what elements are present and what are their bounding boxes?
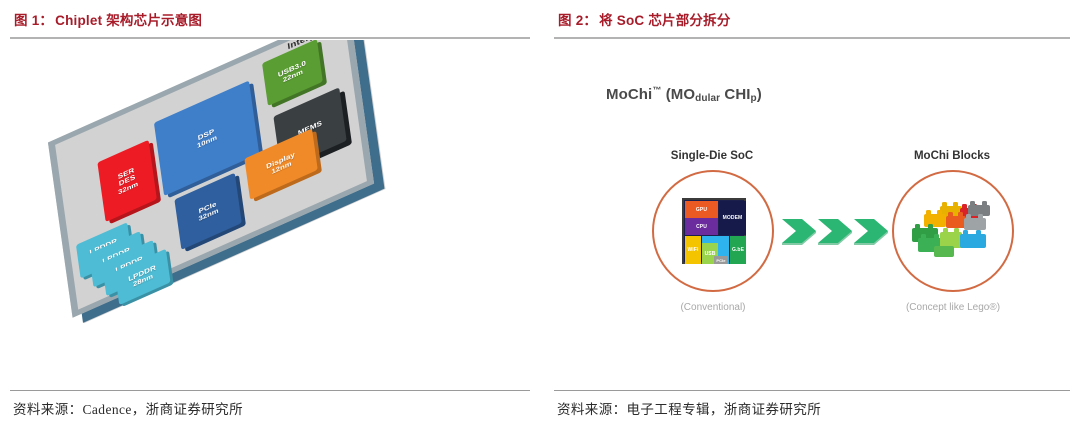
soc-caption: (Conventional) [642,302,784,313]
figure-2-title-text: 将 SoC 芯片部分拆分 [599,13,730,28]
mochi-heading-sub2: p [751,93,757,104]
mochi-heading-mid: CHI [720,86,750,103]
figure-2-title-number: 2： [576,13,597,28]
figure-1-title: 图1：Chiplet 架构芯片示意图 [10,0,530,29]
mochi-heading-sub1: dular [695,93,720,104]
mochi-heading-paren-close: ) [757,86,762,103]
figure-2-source: 资料来源：电子工程专辑，浙商证券研究所 [557,398,821,418]
figure-2-title: 图2：将 SoC 芯片部分拆分 [554,0,1070,29]
figure-panel-1: 图1：Chiplet 架构芯片示意图 DSP 10nm USB3.0 22nm … [10,0,530,427]
soc-die-floorplan: GPU CPU MODEM WiFi USB G.bE PCIe [682,198,746,264]
figure-1-source: 资料来源：Cadence，浙商证券研究所 [13,398,243,418]
figure-1-footer-rule [10,390,530,391]
figure-2-title-prefix: 图 [558,13,572,28]
soc-block-gpu: GPU [685,201,718,218]
mochi-heading: MoChi™ (MOdular CHIp) [606,85,762,103]
chiplet-isometric-group: DSP 10nm USB3.0 22nm MEMS SER DES 32nm D… [48,40,374,318]
page-root: 图1：Chiplet 架构芯片示意图 DSP 10nm USB3.0 22nm … [0,0,1080,427]
soc-block-modem: MODEM [719,201,746,235]
figure-1-title-text: Chiplet 架构芯片示意图 [55,13,202,28]
mochi-heading-paren-open: (MO [661,86,695,103]
figure-1-title-number: 1： [32,13,53,28]
chevron-arrow-icon [782,215,892,247]
figure-1-title-prefix: 图 [14,13,28,28]
transform-arrows [782,215,892,247]
figure-panel-2: 图2：将 SoC 芯片部分拆分 MoChi™ (MOdular CHIp) Si… [554,0,1070,427]
single-die-soc-label: Single-Die SoC [632,150,792,162]
figure-2-title-rule [554,37,1070,39]
figure-1-title-rule [10,37,530,39]
mochi-heading-main: MoChi [606,86,652,103]
soc-block-wifi: WiFi [685,236,701,264]
figure-2-footer-rule [554,390,1070,391]
mochi-caption: (Concept like Lego®) [872,302,1034,313]
mochi-blocks-label: MoChi Blocks [872,150,1032,162]
soc-block-gbe: G.bE [730,236,746,264]
soc-block-cpu: CPU [685,218,718,235]
soc-block-pcie: PCIe [714,256,728,264]
mochi-diagram: MoChi™ (MOdular CHIp) Single-Die SoC MoC… [554,40,1070,370]
lego-blocks-illustration [906,192,1002,272]
chiplet-diagram: DSP 10nm USB3.0 22nm MEMS SER DES 32nm D… [10,40,530,370]
